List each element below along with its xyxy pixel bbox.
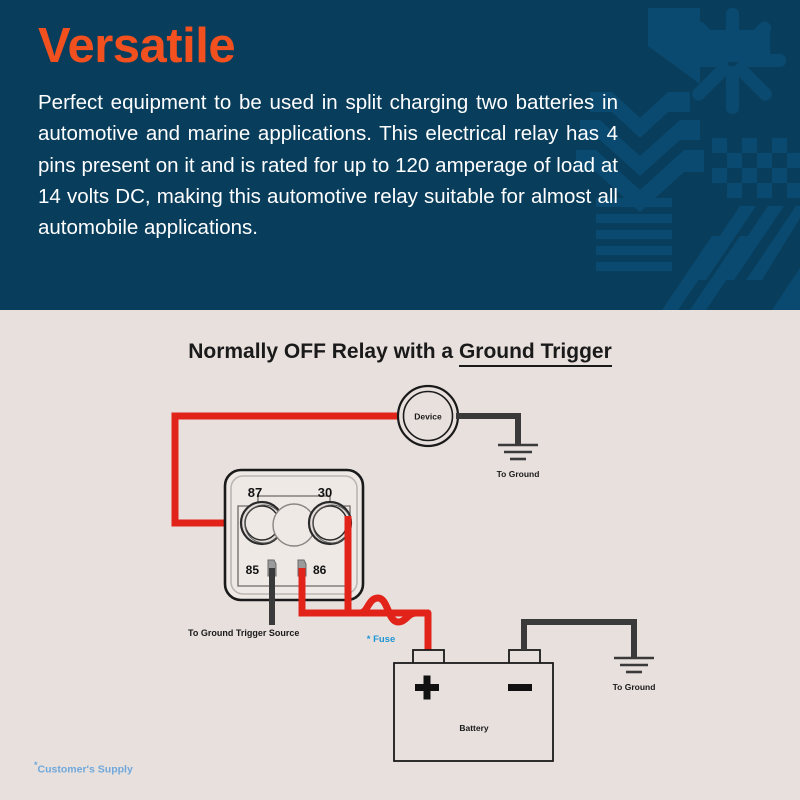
battery-label: Battery	[459, 723, 489, 733]
header-banner: Versatile Perfect equipment to be used i…	[0, 0, 800, 310]
wire-black-device-to-ground	[456, 416, 518, 445]
page-title: Versatile	[38, 22, 628, 71]
ground-symbol-top: To Ground	[497, 445, 540, 479]
header-description: Perfect equipment to be used in split ch…	[38, 87, 618, 244]
relay-pin-85-label: 85	[246, 563, 260, 577]
fuse-component: * Fuse	[348, 598, 428, 650]
infographic-page: Versatile Perfect equipment to be used i…	[0, 0, 800, 800]
relay-pin-87-label: 87	[248, 485, 262, 500]
battery-component: Battery	[394, 650, 553, 761]
battery-body	[394, 663, 553, 761]
relay-pin-30-label: 30	[318, 485, 332, 500]
battery-negative-post	[509, 650, 540, 664]
footnote: *Customer's Supply	[34, 760, 133, 776]
diagram-area: Normally OFF Relay with a Ground Trigger…	[0, 310, 800, 800]
battery-minus-sign	[508, 684, 532, 691]
to-ground-top-label: To Ground	[497, 469, 540, 479]
relay-wiring-schematic: Device To Ground	[0, 310, 800, 800]
header-text-block: Versatile Perfect equipment to be used i…	[38, 22, 628, 244]
device-label: Device	[414, 412, 442, 422]
to-ground-right-label: To Ground	[613, 682, 656, 692]
to-ground-trigger-source-label: To Ground Trigger Source	[188, 628, 299, 638]
ground-symbol-right: To Ground	[613, 658, 656, 692]
relay-component: 87 30 85 86	[225, 470, 363, 600]
footnote-text: Customer's Supply	[38, 764, 133, 776]
fuse-label: * Fuse	[367, 634, 396, 645]
device-component: Device	[398, 386, 458, 446]
battery-positive-post	[413, 650, 444, 664]
relay-pin-86-label: 86	[313, 563, 327, 577]
